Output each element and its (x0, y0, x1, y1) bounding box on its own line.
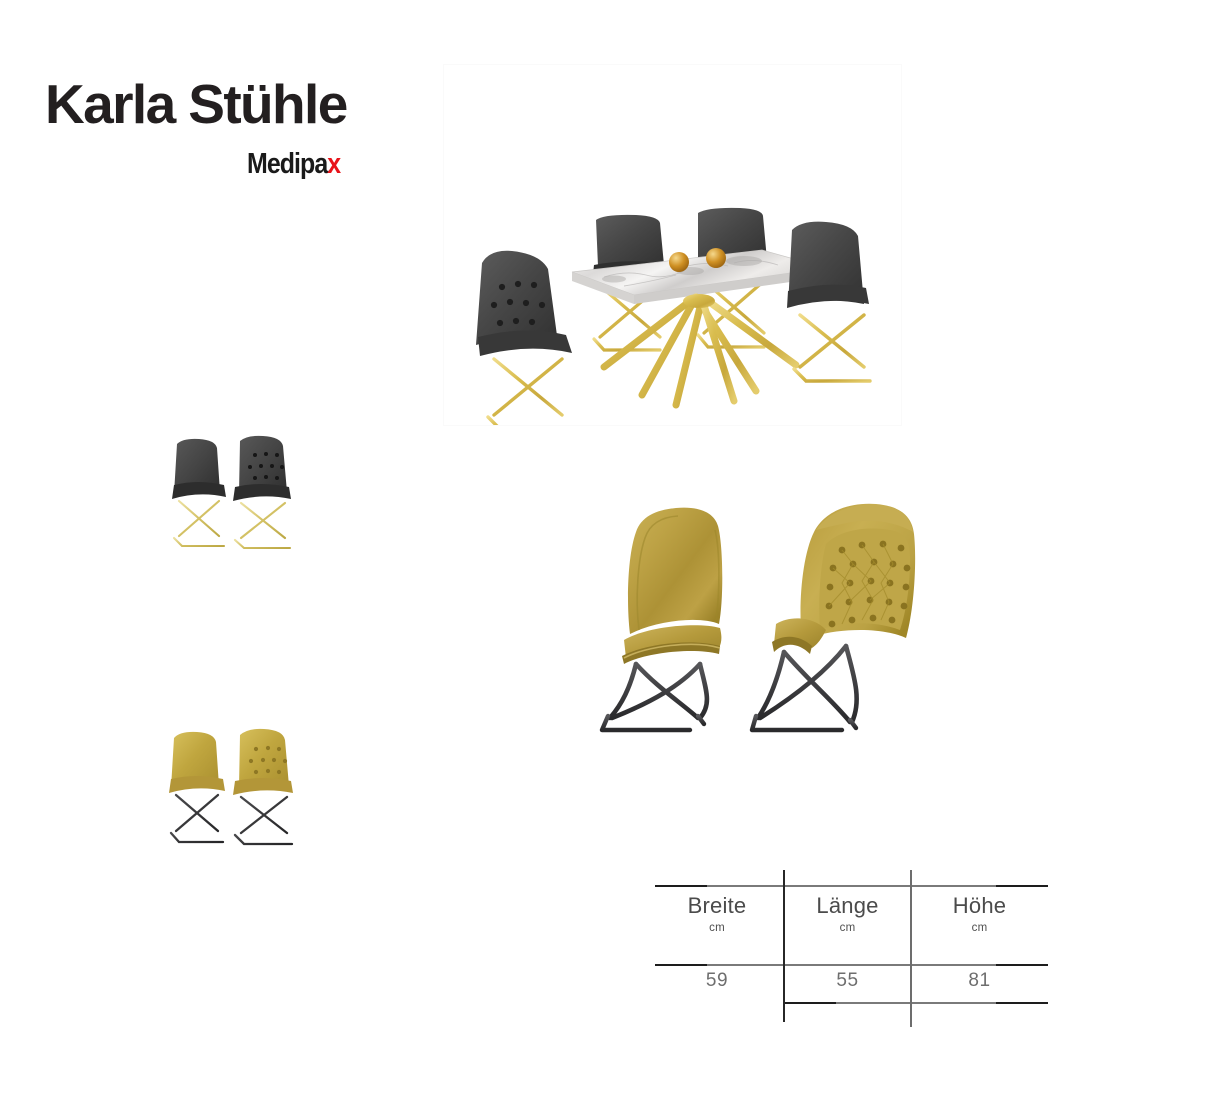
table-header-breite-unit: cm (650, 922, 784, 934)
table-value-hoehe: 81 (911, 970, 1048, 992)
table-header-breite: Breite cm (650, 893, 784, 934)
table-cell-breite: 59 (650, 970, 784, 992)
table-header-laenge-label: Länge (784, 893, 911, 919)
table-header-laenge-unit: cm (784, 922, 911, 934)
table-header-laenge: Länge cm (784, 893, 911, 934)
table-value-laenge: 55 (784, 970, 911, 992)
table-header-breite-label: Breite (650, 893, 784, 919)
table-cell-laenge: 55 (784, 970, 911, 992)
brand-logo-main: Medipa (247, 150, 327, 179)
page-title: Karla Stühle (45, 76, 347, 134)
grey-chairs-illustration (145, 425, 317, 555)
gold-sphere-left (669, 252, 689, 272)
dining-set-illustration (444, 65, 902, 426)
table-value-breite: 59 (650, 970, 784, 992)
table-header-row: Breite cm Länge cm Höhe cm (650, 893, 1048, 934)
brand-logo-accent: x (327, 150, 340, 179)
table-rule-middle (655, 964, 1048, 966)
table-cell-hoehe: 81 (911, 970, 1048, 992)
thumbnail-yellow-chairs[interactable] (140, 718, 320, 850)
brand-logo: Medipax (247, 150, 340, 180)
thumbnail-grey-chairs[interactable] (145, 425, 317, 555)
karla-chair-pair[interactable] (540, 488, 940, 750)
dining-set-photo (443, 64, 902, 426)
karla-chair-pair-illustration (540, 488, 940, 750)
gold-sphere-right (706, 248, 726, 268)
table-header-hoehe-unit: cm (911, 922, 1048, 934)
dimensions-table: Breite cm Länge cm Höhe cm 59 55 81 (650, 865, 1048, 1030)
table-rule-top (655, 885, 1048, 887)
table-header-hoehe: Höhe cm (911, 893, 1048, 934)
table-rule-bottom (784, 1002, 1048, 1004)
yellow-chairs-illustration (140, 718, 320, 850)
table-value-row: 59 55 81 (650, 970, 1048, 992)
table-header-hoehe-label: Höhe (911, 893, 1048, 919)
